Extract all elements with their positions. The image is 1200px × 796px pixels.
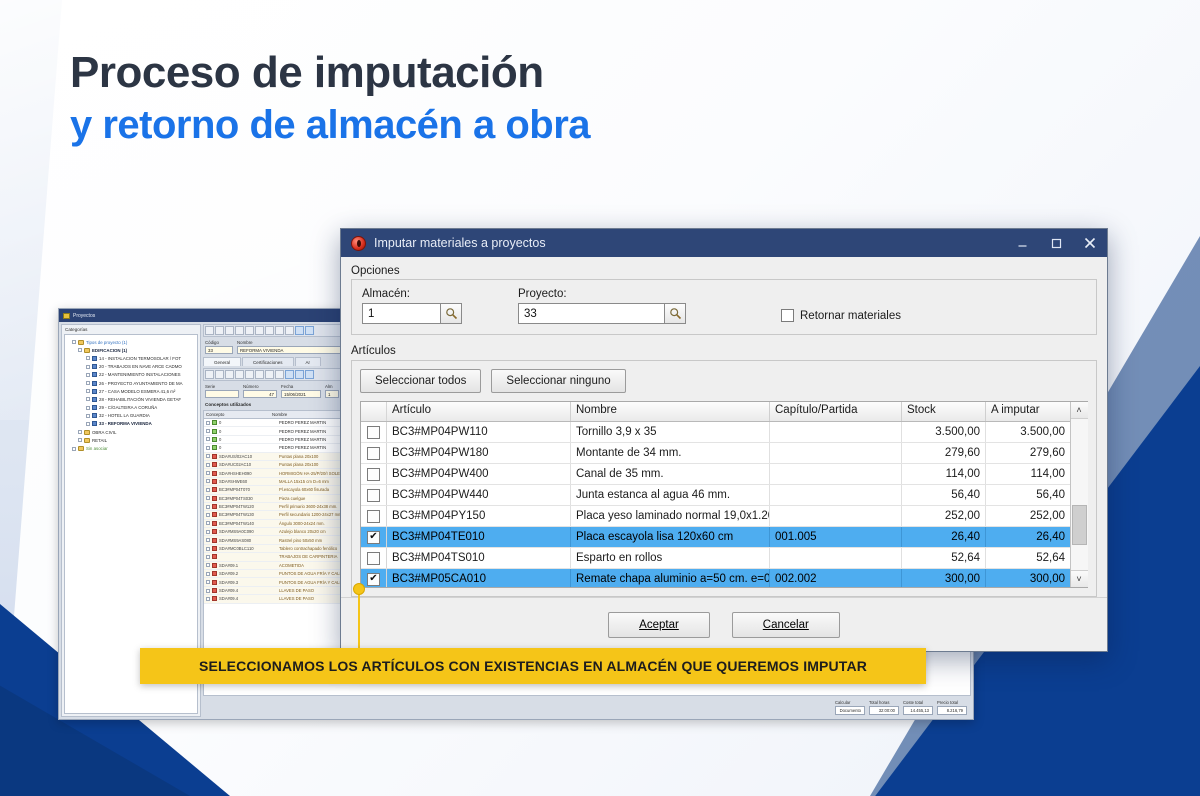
row-checkbox[interactable] (206, 429, 210, 433)
status-field-value: 8.216,79 (937, 706, 967, 715)
articles-vertical-scrollbar[interactable]: ˄ ˅ (1070, 402, 1087, 587)
checkbox-icon[interactable] (367, 552, 380, 565)
select-none-button[interactable]: Seleccionar ninguno (491, 369, 625, 393)
background-window-title: Proyectos (73, 313, 95, 319)
cell-concepto: BC3#MP04TW120 (219, 504, 277, 509)
tree-node-label: 27 - CASA MODELO ESMERA 41,6 m² (99, 389, 175, 394)
scroll-up-icon[interactable]: ˄ (1071, 402, 1088, 419)
cell-articulo[interactable]: BC3#MP04PW180 (387, 443, 571, 463)
column-header-capitulo[interactable]: Capítulo/Partida (770, 402, 902, 421)
cell-imputar[interactable]: 300,00 (986, 569, 1070, 587)
tree-node-label: Tipos de proyecto (1) (86, 340, 127, 345)
labour-icon (212, 437, 217, 442)
status-field-value: 14.455,13 (903, 706, 933, 715)
callout-pointer-dot (353, 583, 365, 595)
toolbar-refresh-icon[interactable] (275, 326, 284, 335)
row-checkbox-cell[interactable] (361, 422, 387, 442)
expander-icon[interactable] (86, 397, 90, 401)
tree-node-label: 22 - MANTENIMIENTO INSTALACIONES (99, 372, 181, 377)
cell-imputar[interactable]: 26,40 (986, 527, 1070, 547)
concepts-prev-icon[interactable] (215, 370, 224, 379)
cell-imputar[interactable]: 56,40 (986, 485, 1070, 505)
document-icon (92, 381, 97, 386)
status-field: CalcularDocumento (835, 700, 865, 715)
material-icon (212, 563, 217, 568)
table-row[interactable]: BC3#MP04PW110Tornillo 3,9 x 353.500,003.… (361, 422, 1070, 443)
page-title-line2: y retorno de almacén a obra (70, 101, 590, 149)
table-row[interactable]: ✔BC3#MP04TE010Placa escayola lisa 120x60… (361, 527, 1070, 548)
minimize-icon[interactable] (1009, 232, 1035, 254)
proyecto-input-wrap (518, 303, 686, 324)
cell-nombre[interactable]: Canal de 35 mm. (571, 464, 770, 484)
tree-node[interactable]: EDIFICACION (1) (67, 346, 195, 354)
fecha-field[interactable]: Fecha (281, 384, 321, 398)
checkbox-icon[interactable] (367, 510, 380, 523)
cancel-button-label: Cancelar (763, 619, 809, 631)
document-icon (92, 413, 97, 418)
material-icon (212, 571, 217, 576)
app-icon (351, 236, 366, 251)
cell-nombre[interactable]: Tornillo 3,9 x 35 (571, 422, 770, 442)
tree-node-label: 29 - C/GALTEIRA A CORUÑA (99, 405, 157, 410)
page-title: Proceso de imputación y retorno de almac… (70, 48, 590, 149)
cell-concepto: SDA#09.2 (219, 571, 277, 576)
cell-articulo[interactable]: BC3#MP04PY150 (387, 506, 571, 526)
expander-icon[interactable] (72, 447, 76, 451)
material-icon (212, 462, 217, 467)
retornar-materiales-checkbox-row[interactable]: Retornar materiales (781, 309, 901, 324)
row-checkbox-cell[interactable] (361, 506, 387, 526)
tree-node[interactable]: 22 - MANTENIMIENTO INSTALACIONES (67, 371, 195, 379)
tree-node-label: 20 - TRABAJOS EN NAVE ARCE CADMO (99, 364, 182, 369)
tree-node-label: 14 - INSTALACION TERMOSOLAR / FOT (99, 356, 181, 361)
cell-capitulo[interactable] (770, 485, 902, 505)
cell-concepto: SDA#HSHEH090 (219, 471, 277, 476)
status-field: Total horas32:00:00 (869, 700, 899, 715)
expander-icon[interactable] (78, 348, 82, 352)
cell-imputar[interactable]: 52,64 (986, 548, 1070, 568)
row-checkbox[interactable] (206, 589, 210, 593)
column-header-stock[interactable]: Stock (902, 402, 986, 421)
tree-node[interactable]: OBRA CIVIL (67, 428, 195, 436)
cell-imputar[interactable]: 252,00 (986, 506, 1070, 526)
toolbar-report-icon[interactable] (305, 326, 314, 335)
tree-node-label: 33 - REFORMA VIVIENDA (99, 421, 152, 426)
material-icon (212, 471, 217, 476)
material-icon (212, 487, 217, 492)
cell-stock[interactable]: 56,40 (902, 485, 986, 505)
almacen-mini-label: Alm (325, 384, 339, 389)
cell-concepto: 0 (219, 420, 277, 425)
row-checkbox[interactable] (206, 555, 210, 559)
cell-concepto: 0 (219, 429, 277, 434)
expander-icon[interactable] (72, 340, 76, 344)
cell-stock[interactable]: 114,00 (902, 464, 986, 484)
scrollbar-thumb[interactable] (1072, 505, 1087, 545)
cell-imputar[interactable]: 279,60 (986, 443, 1070, 463)
column-header-nombre[interactable]: Nombre (571, 402, 770, 421)
row-checkbox[interactable] (206, 547, 210, 551)
concepts-up-icon[interactable] (265, 370, 274, 379)
row-checkbox[interactable] (206, 454, 210, 458)
expander-icon[interactable] (86, 422, 90, 426)
folder-icon (84, 430, 90, 435)
material-icon (212, 538, 217, 543)
row-checkbox[interactable] (206, 513, 210, 517)
row-checkbox[interactable] (206, 446, 210, 450)
articles-table: Artículo Nombre Capítulo/Partida Stock A… (361, 402, 1070, 587)
articles-group-label: Artículos (351, 345, 1097, 357)
status-field: Coste total14.455,13 (903, 700, 933, 715)
selection-buttons: Seleccionar todos Seleccionar ninguno (360, 369, 1088, 393)
table-row[interactable]: BC3#MP04PW440Junta estanca al agua 46 mm… (361, 485, 1070, 506)
page-title-line1: Proceso de imputación (70, 48, 590, 97)
tree-node[interactable]: RETAIL (67, 436, 195, 444)
codigo-input[interactable] (205, 346, 233, 354)
tree-node-label: EDIFICACION (1) (92, 348, 127, 353)
material-icon (212, 554, 217, 559)
checkbox-icon[interactable] (367, 468, 380, 481)
row-checkbox[interactable] (206, 530, 210, 534)
fecha-label: Fecha (281, 384, 321, 389)
almacen-magnifier-icon[interactable] (440, 303, 462, 324)
cell-concepto: BC3#MP04TW140 (219, 521, 277, 526)
material-icon (212, 521, 217, 526)
tree-node[interactable]: 27 - CASA MODELO ESMERA 41,6 m² (67, 387, 195, 395)
status-field-label: Total horas (869, 700, 899, 705)
document-icon (92, 364, 97, 369)
tree-node-label: 28 - REHABILITACIÓN VIVIENDA GETAF (99, 397, 181, 402)
dialog-titlebar[interactable]: Imputar materiales a proyectos (341, 229, 1107, 257)
material-icon (212, 546, 217, 551)
detail-tab[interactable]: Ar (295, 357, 322, 366)
checkbox-icon[interactable] (367, 489, 380, 502)
status-field-label: Calcular (835, 700, 865, 705)
serie-input[interactable] (205, 390, 239, 398)
row-checkbox[interactable] (206, 563, 210, 567)
row-checkbox-cell[interactable]: ✔ (361, 527, 387, 547)
row-checkbox[interactable] (206, 496, 210, 500)
cell-capitulo[interactable]: 002.002 (770, 569, 902, 587)
table-row[interactable]: BC3#MP04PY150Placa yeso laminado normal … (361, 506, 1070, 527)
serie-label: Serie (205, 384, 239, 389)
checkbox-checked-icon[interactable]: ✔ (367, 531, 380, 544)
cell-capitulo[interactable] (770, 548, 902, 568)
concepts-first-icon[interactable] (205, 370, 214, 379)
tree-node-label: Sin asociar (86, 446, 108, 451)
concepts-search-icon[interactable] (285, 370, 294, 379)
tree-node[interactable]: 29 - C/GALTEIRA A CORUÑA (67, 404, 195, 412)
row-checkbox[interactable] (206, 488, 210, 492)
folder-icon (84, 348, 90, 353)
toolbar-remove-icon[interactable] (255, 326, 264, 335)
almacen-mini-input[interactable] (325, 390, 339, 398)
status-field-value: Documento (835, 706, 865, 715)
cell-nombre[interactable]: Placa escayola lisa 120x60 cm (571, 527, 770, 547)
material-icon (212, 596, 217, 601)
cell-stock[interactable]: 300,00 (902, 569, 986, 587)
expander-icon[interactable] (86, 381, 90, 385)
cell-concepto: 0 (219, 445, 277, 450)
status-field-label: Precio total (937, 700, 967, 705)
row-checkbox[interactable] (206, 505, 210, 509)
concepts-zoom-icon[interactable] (295, 370, 304, 379)
row-checkbox-cell[interactable]: ✔ (361, 569, 387, 587)
toolbar-next-icon[interactable] (245, 326, 254, 335)
retornar-materiales-checkbox[interactable] (781, 309, 794, 322)
document-icon (92, 405, 97, 410)
articles-group: Seleccionar todos Seleccionar ninguno Ar… (351, 360, 1097, 597)
cell-articulo[interactable]: BC3#MP04PW110 (387, 422, 571, 442)
tree-node[interactable]: 20 - TRABAJOS EN NAVE ARCE CADMO (67, 363, 195, 371)
folder-icon (78, 340, 84, 345)
concepts-print-icon[interactable] (305, 370, 314, 379)
cell-nombre[interactable]: Esparto en rollos (571, 548, 770, 568)
cell-nombre[interactable]: Junta estanca al agua 46 mm. (571, 485, 770, 505)
row-checkbox[interactable] (206, 521, 210, 525)
material-icon (212, 588, 217, 593)
articles-table-header: Artículo Nombre Capítulo/Partida Stock A… (361, 402, 1070, 422)
cancel-button[interactable]: Cancelar (732, 612, 840, 638)
cell-stock[interactable]: 52,64 (902, 548, 986, 568)
concepts-remove-icon[interactable] (255, 370, 264, 379)
toolbar-search-icon[interactable] (285, 326, 294, 335)
cell-concepto: SDA#UC02AC10 (219, 462, 277, 467)
expander-icon[interactable] (86, 373, 90, 377)
concepts-last-icon[interactable] (245, 370, 254, 379)
row-checkbox[interactable] (206, 421, 210, 425)
proyecto-magnifier-icon[interactable] (664, 303, 686, 324)
row-checkbox[interactable] (206, 437, 210, 441)
cell-articulo[interactable]: BC3#MP05CA010 (387, 569, 571, 587)
almacen-input-wrap (362, 303, 462, 324)
toolbar-up-icon[interactable] (265, 326, 274, 335)
table-row[interactable]: BC3#MP04TS010Esparto en rollos52,6452,64 (361, 548, 1070, 569)
almacen-label: Almacén: (362, 288, 462, 300)
tree-node[interactable]: 28 - REHABILITACIÓN VIVIENDA GETAF (67, 395, 195, 403)
cell-capitulo[interactable]: 001.005 (770, 527, 902, 547)
options-group: Almacén: Proyecto: (351, 279, 1097, 335)
cell-articulo[interactable]: BC3#MP04PW440 (387, 485, 571, 505)
dialog-footer: Aceptar Cancelar (341, 597, 1107, 651)
labour-icon (212, 445, 217, 450)
toolbar-prev-icon[interactable] (215, 326, 224, 335)
cell-concepto: BC3#MP04T070 (219, 487, 277, 492)
cell-nombre[interactable]: Remate chapa aluminio a=50 cm. e=0,6 mm. (571, 569, 770, 587)
folder-icon (84, 438, 90, 443)
material-icon (212, 479, 217, 484)
row-checkbox-cell[interactable] (361, 464, 387, 484)
callout-text: SELECCIONAMOS LOS ARTÍCULOS CON EXISTENC… (199, 658, 867, 674)
cell-stock[interactable]: 3.500,00 (902, 422, 986, 442)
row-checkbox[interactable] (206, 597, 210, 601)
table-row[interactable]: BC3#MP04PW400Canal de 35 mm.114,00114,00 (361, 464, 1070, 485)
cell-nombre[interactable]: Montante de 34 mm. (571, 443, 770, 463)
cell-concepto: BC3#MP04TS030 (219, 496, 277, 501)
scroll-down-icon[interactable]: ˅ (1071, 570, 1088, 587)
labour-icon (212, 420, 217, 425)
close-icon[interactable] (1077, 232, 1103, 254)
detail-tab[interactable]: Certificaciones (242, 357, 294, 366)
material-icon (212, 529, 217, 534)
row-checkbox[interactable] (206, 471, 210, 475)
cell-concepto: SDA#MC0BLC110 (219, 546, 277, 551)
concepts-col-concepto: Concepto (204, 411, 270, 418)
cell-concepto: SDA#09.4 (219, 588, 277, 593)
cell-capitulo[interactable] (770, 422, 902, 442)
cell-stock[interactable]: 252,00 (902, 506, 986, 526)
material-icon (212, 512, 217, 517)
row-checkbox-cell[interactable] (361, 443, 387, 463)
document-icon (92, 389, 97, 394)
row-checkbox-cell[interactable] (361, 485, 387, 505)
numero-label: Número (243, 384, 277, 389)
retornar-materiales-label: Retornar materiales (800, 310, 901, 322)
tree-node-label: 26 - PROYECTO AYUNTAMIENTO DE MA (99, 381, 183, 386)
almacen-field: Almacén: (362, 288, 462, 324)
almacen-mini-field[interactable]: Alm (325, 384, 339, 398)
proyecto-input[interactable] (518, 303, 664, 324)
document-icon (92, 421, 97, 426)
toolbar-first-icon[interactable] (205, 326, 214, 335)
row-checkbox[interactable] (206, 479, 210, 483)
document-icon (92, 372, 97, 377)
cell-nombre[interactable]: Placa yeso laminado normal 19,0x1.200 mm… (571, 506, 770, 526)
proyecto-label: Proyecto: (518, 288, 686, 300)
callout-pointer-line (358, 590, 360, 654)
toolbar-sep2-icon (235, 326, 244, 335)
expander-icon[interactable] (86, 406, 90, 410)
cell-concepto: SDA#MS9A0C090 (219, 529, 277, 534)
imputar-materiales-dialog[interactable]: Imputar materiales a proyectos Opciones … (340, 228, 1108, 652)
cell-articulo[interactable]: BC3#MP04TS010 (387, 548, 571, 568)
material-icon (212, 454, 217, 459)
folder-icon (63, 313, 70, 319)
toolbar-filter-icon[interactable] (295, 326, 304, 335)
tree-node-label: 32 - HOTEL LA GUARDIA (99, 413, 150, 418)
cell-stock[interactable]: 26,40 (902, 527, 986, 547)
cell-capitulo[interactable] (770, 464, 902, 484)
status-field-label: Coste total (903, 700, 933, 705)
tree-node[interactable]: 33 - REFORMA VIVIENDA (67, 420, 195, 428)
expander-icon[interactable] (78, 438, 82, 442)
codigo-label: Código (205, 340, 233, 345)
select-all-button[interactable]: Seleccionar todos (360, 369, 481, 393)
expander-icon[interactable] (86, 356, 90, 360)
tree-node-label: OBRA CIVIL (92, 430, 116, 435)
material-icon (212, 496, 217, 501)
concepts-add-icon[interactable] (225, 370, 234, 379)
expander-icon[interactable] (86, 414, 90, 418)
row-checkbox-cell[interactable] (361, 548, 387, 568)
column-header-articulo[interactable]: Artículo (387, 402, 571, 421)
column-header-imputar[interactable]: A imputar (986, 402, 1070, 421)
articles-table-body: BC3#MP04PW110Tornillo 3,9 x 353.500,003.… (361, 422, 1070, 587)
serie-field[interactable]: Serie (205, 384, 239, 398)
cell-concepto: SDA#US/02AC10 (219, 454, 277, 459)
document-icon (92, 397, 97, 402)
expander-icon[interactable] (86, 365, 90, 369)
checkbox-checked-icon[interactable]: ✔ (367, 573, 380, 586)
status-fields: CalcularDocumentoTotal horas32:00:00Cost… (203, 698, 971, 717)
cell-capitulo[interactable] (770, 443, 902, 463)
maximize-icon[interactable] (1043, 232, 1069, 254)
column-header-check (361, 402, 387, 421)
status-field: Precio total8.216,79 (937, 700, 967, 715)
status-field-value: 32:00:00 (869, 706, 899, 715)
proyecto-field: Proyecto: (518, 288, 686, 324)
cell-capitulo[interactable] (770, 506, 902, 526)
codigo-field[interactable]: Código (205, 340, 233, 354)
document-icon (92, 356, 97, 361)
table-row[interactable]: BC3#MP04PW180Montante de 34 mm.279,60279… (361, 443, 1070, 464)
numero-field[interactable]: Número (243, 384, 277, 398)
cell-concepto: SDA#09.1 (219, 563, 277, 568)
checkbox-icon[interactable] (367, 426, 380, 439)
dialog-body: Opciones Almacén: Proyecto: (341, 257, 1107, 597)
fecha-input[interactable] (281, 390, 321, 398)
expander-icon[interactable] (78, 430, 82, 434)
callout-banner: SELECCIONAMOS LOS ARTÍCULOS CON EXISTENC… (140, 648, 926, 684)
tree-node[interactable]: Sin asociar (67, 444, 195, 452)
cell-concepto: BC3#MP04TW130 (219, 512, 277, 517)
row-checkbox[interactable] (206, 538, 210, 542)
checkbox-icon[interactable] (367, 447, 380, 460)
cell-imputar[interactable]: 3.500,00 (986, 422, 1070, 442)
tree-node[interactable]: 32 - HOTEL LA GUARDIA (67, 412, 195, 420)
cell-articulo[interactable]: BC3#MP04TE010 (387, 527, 571, 547)
cell-concepto: 0 (219, 437, 277, 442)
cell-concepto: SDA#09.4 (219, 596, 277, 601)
folder-icon (78, 446, 84, 451)
detail-tab[interactable]: General (203, 357, 241, 366)
cell-imputar[interactable]: 114,00 (986, 464, 1070, 484)
cell-concepto: SDA#SHWE60 (219, 479, 277, 484)
options-group-label: Opciones (351, 265, 1097, 277)
row-checkbox[interactable] (206, 463, 210, 467)
tree-node[interactable]: Tipos de proyecto (1) (67, 338, 195, 346)
material-icon (212, 504, 217, 509)
tree-node[interactable]: 26 - PROYECTO AYUNTAMIENTO DE MA (67, 379, 195, 387)
tree-node[interactable]: 14 - INSTALACION TERMOSOLAR / FOT (67, 354, 195, 362)
row-checkbox[interactable] (206, 580, 210, 584)
expander-icon[interactable] (86, 389, 90, 393)
dialog-title: Imputar materiales a proyectos (374, 236, 1001, 250)
cell-concepto: SDA#09.3 (219, 580, 277, 585)
row-checkbox[interactable] (206, 572, 210, 576)
scrollbar-track[interactable] (1071, 419, 1088, 570)
toolbar-sep1-icon (225, 326, 234, 335)
table-row[interactable]: ✔BC3#MP05CA010Remate chapa aluminio a=50… (361, 569, 1070, 587)
cell-articulo[interactable]: BC3#MP04PW400 (387, 464, 571, 484)
concepts-next-icon[interactable] (235, 370, 244, 379)
accept-button[interactable]: Aceptar (608, 612, 710, 638)
material-icon (212, 580, 217, 585)
cell-stock[interactable]: 279,60 (902, 443, 986, 463)
almacen-input[interactable] (362, 303, 440, 324)
cell-concepto: SDA#MS9AS080 (219, 538, 277, 543)
accept-button-label: Aceptar (639, 619, 679, 631)
categories-label: Categorías (62, 325, 200, 334)
tree-node-label: RETAIL (92, 438, 107, 443)
concepts-refresh-icon[interactable] (275, 370, 284, 379)
numero-input[interactable] (243, 390, 277, 398)
articles-table-wrap: Artículo Nombre Capítulo/Partida Stock A… (360, 401, 1088, 588)
labour-icon (212, 429, 217, 434)
